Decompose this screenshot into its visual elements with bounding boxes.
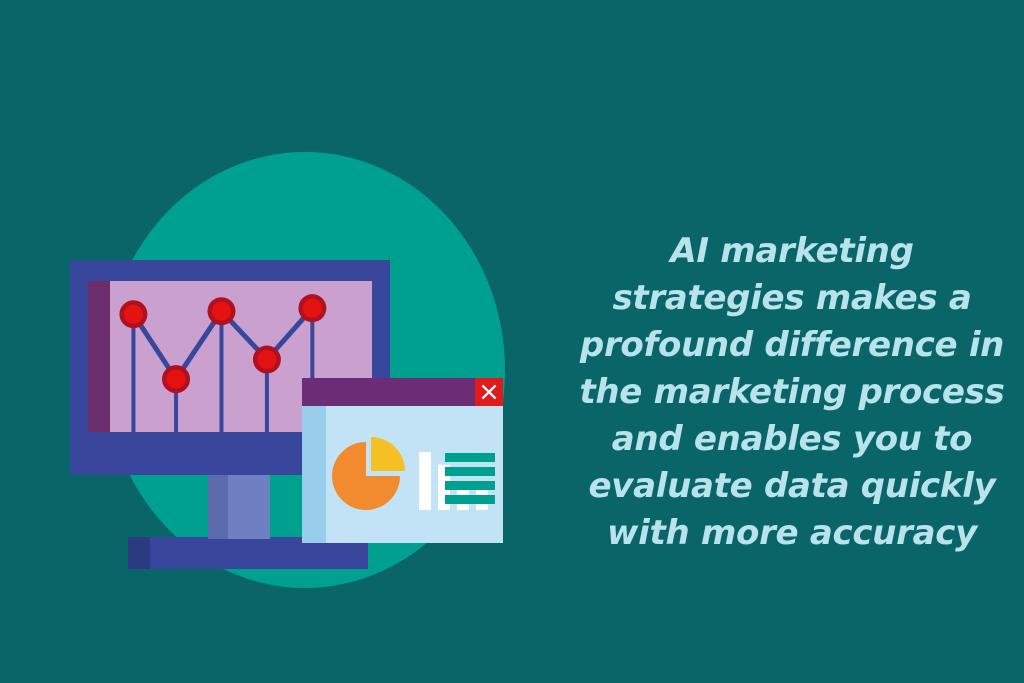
popup-window[interactable] bbox=[302, 378, 503, 543]
infographic-canvas: AI marketing strategies makes a profound… bbox=[0, 0, 1024, 683]
monitor-base-shadow bbox=[128, 537, 150, 569]
close-window-button[interactable] bbox=[475, 378, 503, 406]
popup-titlebar bbox=[302, 378, 503, 406]
quote-text: AI marketing strategies makes a profound… bbox=[570, 228, 1014, 557]
popup-charts bbox=[302, 406, 503, 543]
close-x-icon bbox=[479, 382, 499, 402]
monitor-neck-shadow bbox=[208, 475, 228, 539]
